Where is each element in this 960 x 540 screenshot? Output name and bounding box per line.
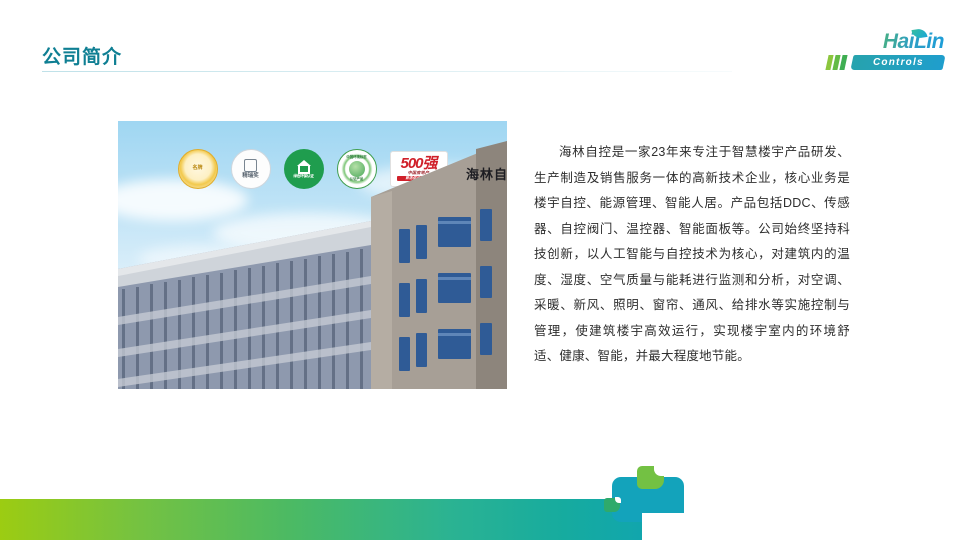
building-sign-text: 海林自控 <box>466 167 507 183</box>
company-building-photo: 名牌 精瑞奖 绿色环保认证 中国环境标志 认证产品 500强 中国房地产 首选供… <box>118 121 507 389</box>
title-divider <box>42 71 732 72</box>
decorative-square-green-small <box>604 498 620 512</box>
decorative-square-green-large <box>637 466 664 489</box>
logo-bars-icon <box>827 55 852 70</box>
logo-tagline-text: Controls <box>873 55 924 70</box>
building-illustration: 海林自控 <box>118 121 507 389</box>
brand-logo: HaiLin Controls <box>822 30 944 72</box>
logo-tagline: Controls <box>850 55 945 70</box>
logo-tagline-band: Controls <box>827 55 944 70</box>
page-title: 公司简介 <box>42 42 122 69</box>
slide-root: 公司简介 HaiLin Controls 名牌 精瑞奖 <box>0 0 960 540</box>
company-description-text: 海林自控是一家23年来专注于智慧楼宇产品研发、生产制造及销售服务一体的高新技术企… <box>534 140 850 370</box>
footer-notch-cutout <box>642 513 702 540</box>
footer-gradient-band <box>0 499 642 540</box>
